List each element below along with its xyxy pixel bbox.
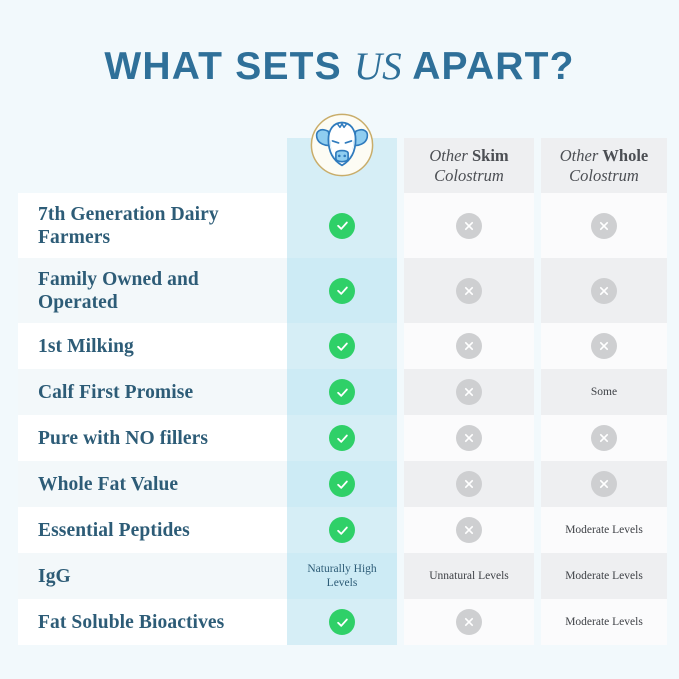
row-feature-label: Whole Fat Value: [18, 461, 287, 507]
cell-other-whole: Some: [541, 369, 667, 415]
cross-icon: [456, 517, 482, 543]
column-spacer: [534, 507, 541, 553]
row-feature-label: Pure with NO fillers: [18, 415, 287, 461]
cell-other-whole: Moderate Levels: [541, 599, 667, 645]
cell-value-text: Moderate Levels: [559, 569, 649, 583]
column-spacer: [534, 415, 541, 461]
header-feature-cell: [18, 138, 287, 193]
cross-icon: [591, 471, 617, 497]
check-icon: [329, 517, 355, 543]
cross-icon: [591, 278, 617, 304]
column-spacer: [534, 193, 541, 258]
cell-other-skim: [404, 507, 534, 553]
cell-ours: [287, 599, 397, 645]
table-row: Pure with NO fillers: [18, 415, 666, 461]
table-row: 1st Milking: [18, 323, 666, 369]
column-spacer: [534, 461, 541, 507]
table-row: Fat Soluble BioactivesModerate Levels: [18, 599, 666, 645]
column-spacer: [397, 507, 404, 553]
cross-icon: [456, 425, 482, 451]
cell-other-whole: Moderate Levels: [541, 553, 667, 599]
cell-ours: [287, 415, 397, 461]
comparison-infographic: WHAT SETS US APART? Other SkimColostrumO…: [0, 0, 679, 679]
cell-other-skim: [404, 461, 534, 507]
cell-other-skim: [404, 258, 534, 323]
cell-other-skim: [404, 369, 534, 415]
column-spacer: [397, 323, 404, 369]
check-icon: [329, 609, 355, 635]
column-spacer: [397, 553, 404, 599]
column-spacer: [534, 553, 541, 599]
row-feature-label: IgG: [18, 553, 287, 599]
row-feature-label: Essential Peptides: [18, 507, 287, 553]
cell-other-skim: [404, 323, 534, 369]
check-icon: [329, 278, 355, 304]
check-icon: [329, 425, 355, 451]
cell-other-whole: [541, 461, 667, 507]
column-spacer: [534, 369, 541, 415]
cross-icon: [456, 471, 482, 497]
column-spacer: [397, 415, 404, 461]
column-spacer: [397, 258, 404, 323]
cell-other-skim: [404, 415, 534, 461]
cell-other-skim: [404, 599, 534, 645]
title-emphasis-us: US: [354, 45, 402, 88]
table-row: IgGNaturally High LevelsUnnatural Levels…: [18, 553, 666, 599]
column-spacer: [397, 138, 404, 193]
table-row: Whole Fat Value: [18, 461, 666, 507]
cross-icon: [456, 609, 482, 635]
check-icon: [329, 213, 355, 239]
check-icon: [329, 379, 355, 405]
header-brand-cell: [287, 138, 397, 193]
cross-icon: [456, 213, 482, 239]
table-row: 7th Generation Dairy Farmers: [18, 193, 666, 258]
cell-other-skim: Unnatural Levels: [404, 553, 534, 599]
cross-icon: [456, 333, 482, 359]
cell-other-whole: [541, 258, 667, 323]
cross-icon: [456, 278, 482, 304]
cross-icon: [456, 379, 482, 405]
title-part-1: WHAT SETS: [104, 45, 354, 88]
column-spacer: [397, 461, 404, 507]
column-spacer: [397, 369, 404, 415]
column-spacer: [534, 258, 541, 323]
row-feature-label: Family Owned and Operated: [18, 258, 287, 323]
cow-head-logo-icon: [308, 111, 376, 179]
row-feature-label: 1st Milking: [18, 323, 287, 369]
column-spacer: [397, 193, 404, 258]
table-row: Family Owned and Operated: [18, 258, 666, 323]
cell-ours: Naturally High Levels: [287, 553, 397, 599]
check-icon: [329, 471, 355, 497]
cell-value-text: Some: [585, 385, 623, 399]
cell-value-text: Unnatural Levels: [423, 569, 515, 583]
table-row: Calf First PromiseSome: [18, 369, 666, 415]
column-spacer: [534, 599, 541, 645]
cell-ours: [287, 258, 397, 323]
cell-other-whole: [541, 193, 667, 258]
table-row: Essential PeptidesModerate Levels: [18, 507, 666, 553]
cell-value-text: Moderate Levels: [559, 615, 649, 629]
header-whole-label: Other WholeColostrum: [560, 146, 648, 186]
cell-other-whole: Moderate Levels: [541, 507, 667, 553]
cross-icon: [591, 425, 617, 451]
cell-value-text: Naturally High Levels: [287, 562, 397, 590]
cell-other-skim: [404, 193, 534, 258]
comparison-table: Other SkimColostrumOther WholeColostrum7…: [18, 138, 666, 645]
table-header-row: Other SkimColostrumOther WholeColostrum: [18, 138, 666, 193]
cell-value-text: Moderate Levels: [559, 523, 649, 537]
header-whole-cell: Other WholeColostrum: [541, 138, 667, 193]
page-title: WHAT SETS US APART?: [0, 44, 679, 90]
cross-icon: [591, 213, 617, 239]
header-skim-cell: Other SkimColostrum: [404, 138, 534, 193]
check-icon: [329, 333, 355, 359]
row-feature-label: 7th Generation Dairy Farmers: [18, 193, 287, 258]
row-feature-label: Calf First Promise: [18, 369, 287, 415]
column-spacer: [397, 599, 404, 645]
cell-ours: [287, 369, 397, 415]
title-part-2: APART?: [402, 45, 575, 88]
header-skim-label: Other SkimColostrum: [429, 146, 508, 186]
cell-other-whole: [541, 323, 667, 369]
cell-other-whole: [541, 415, 667, 461]
cell-ours: [287, 193, 397, 258]
cell-ours: [287, 323, 397, 369]
row-feature-label: Fat Soluble Bioactives: [18, 599, 287, 645]
cell-ours: [287, 507, 397, 553]
cell-ours: [287, 461, 397, 507]
column-spacer: [534, 138, 541, 193]
column-spacer: [534, 323, 541, 369]
cross-icon: [591, 333, 617, 359]
